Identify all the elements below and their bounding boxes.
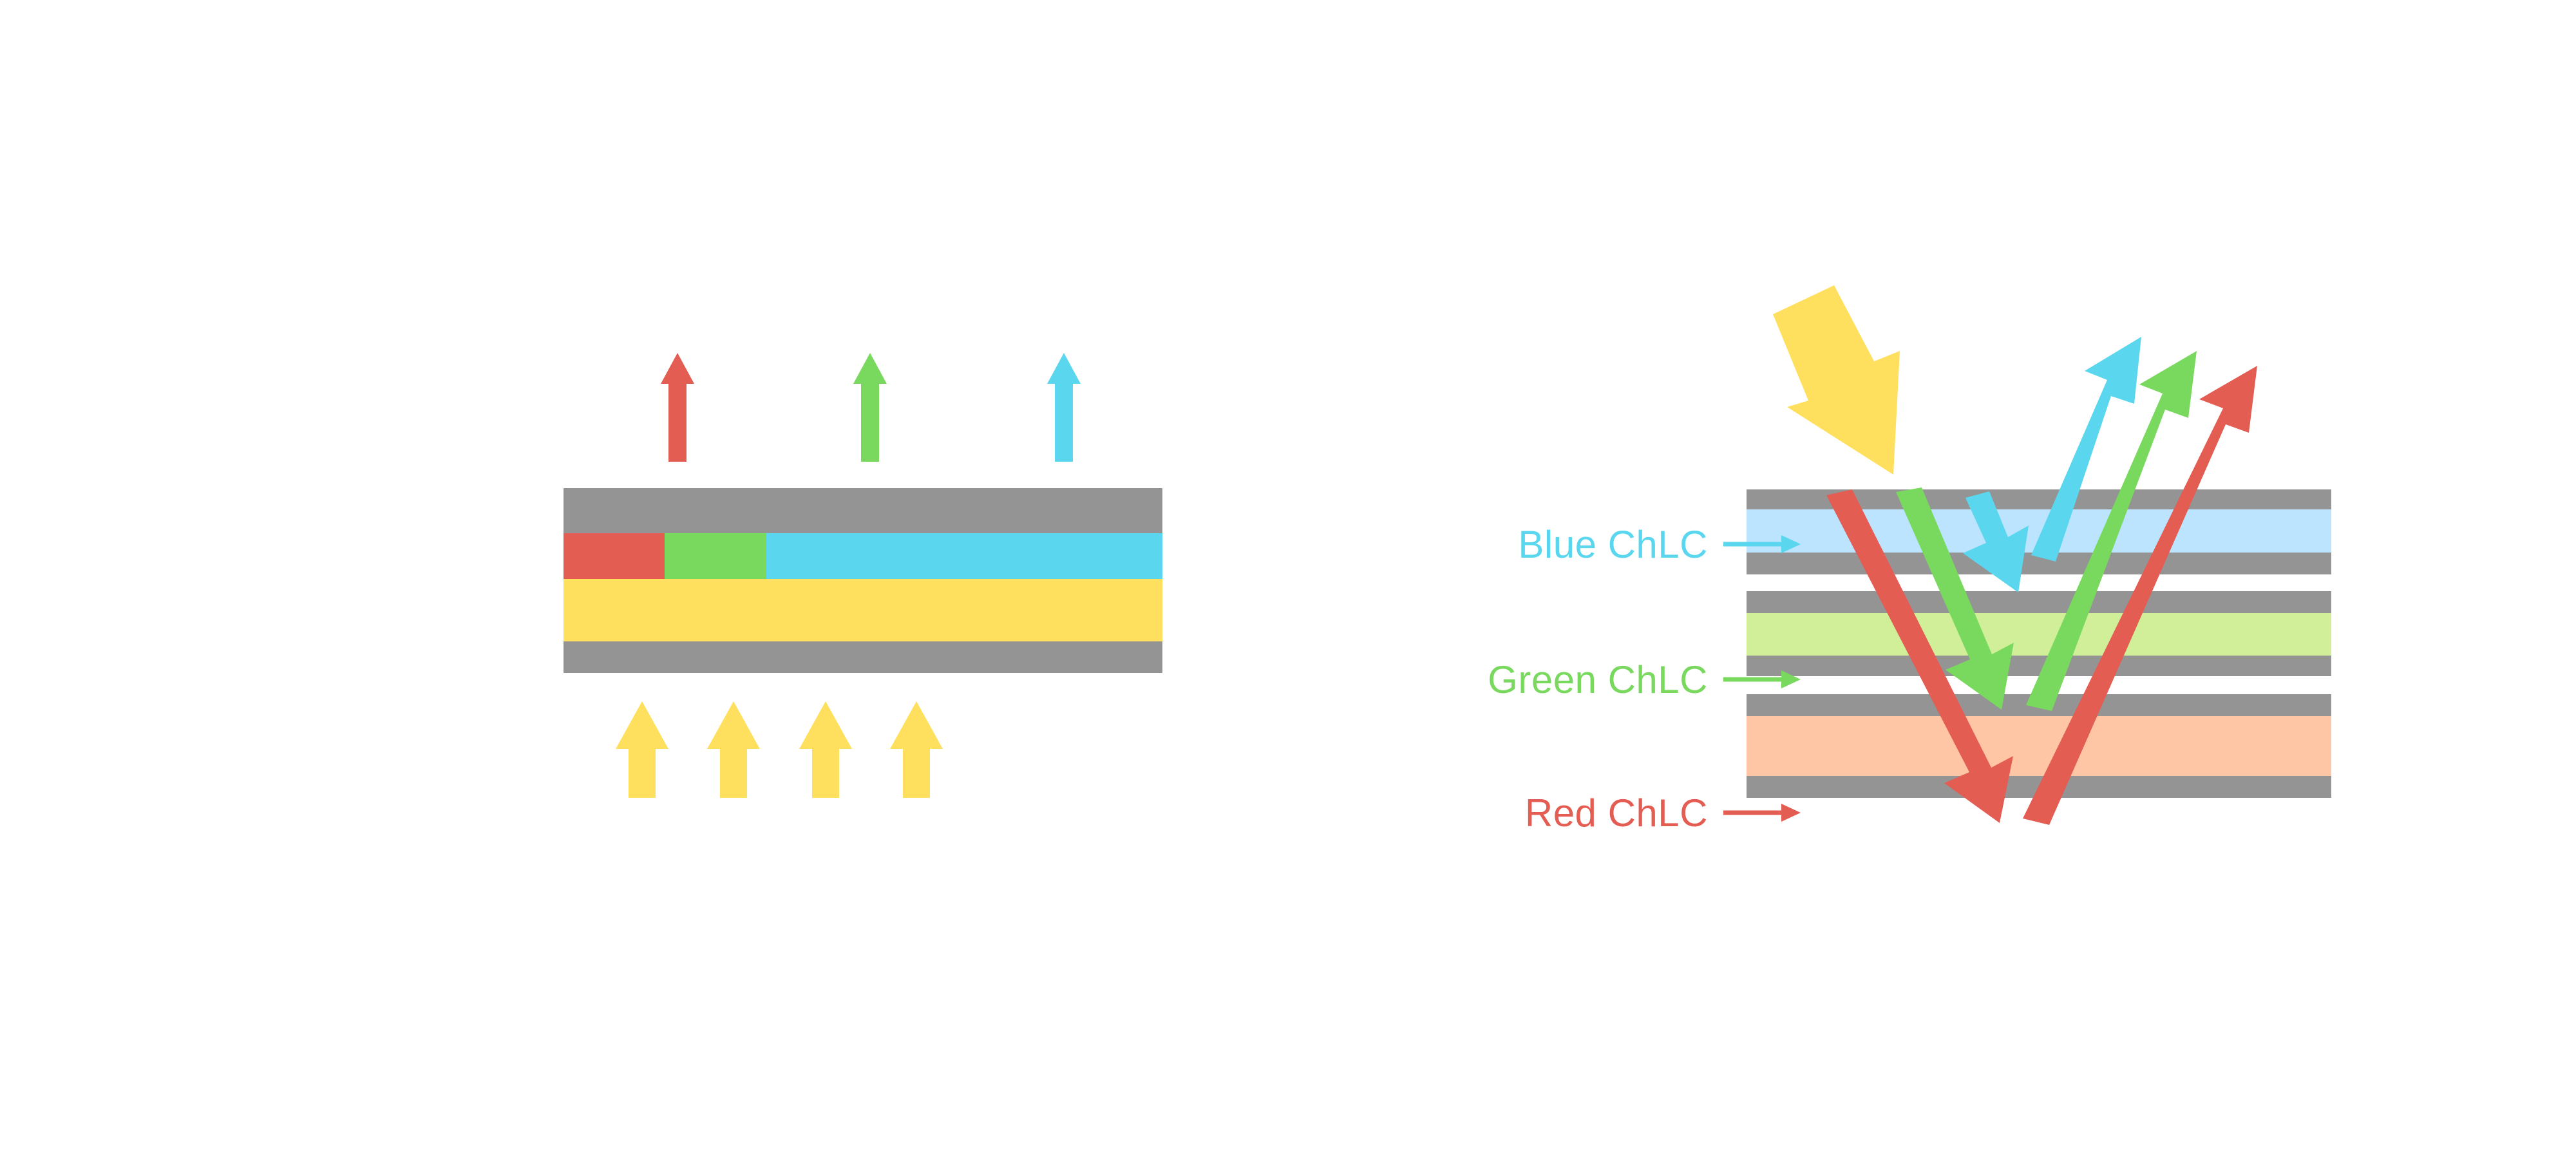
red-chlc-label-arrow [1723,804,1801,822]
reflective-chlc-stack-panel: Blue ChLC Green ChLC Red ChLC [0,0,2576,1154]
green-band-top-gray [1747,591,2331,613]
red-chlc-label-text: Red ChLC [1525,791,1708,835]
red-chlc-band [1747,716,2331,776]
chlc-stack [1747,489,2331,798]
figure-canvas: Blue ChLC Green ChLC Red ChLC [0,0,2576,1154]
green-chlc-band [1747,613,2331,656]
blue-chlc-label-text: Blue ChLC [1518,523,1708,566]
green-chlc-label-text: Green ChLC [1488,658,1708,701]
incident-white-light-arrow [1773,285,1900,475]
green-band-bottom-gray [1747,656,2331,676]
